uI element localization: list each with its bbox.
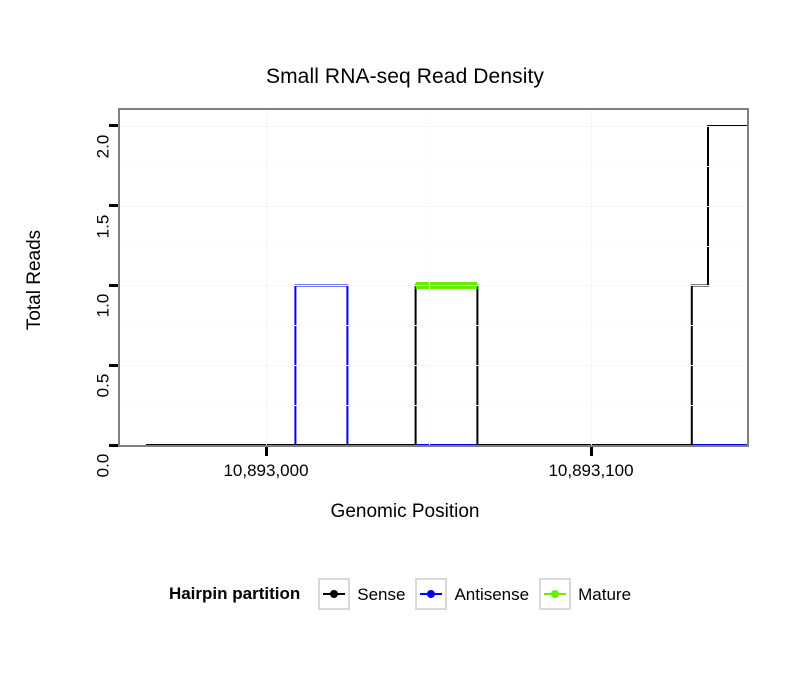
legend-title: Hairpin partition xyxy=(169,584,300,604)
legend-label: Antisense xyxy=(454,585,529,604)
gridline-horizontal xyxy=(120,285,747,286)
x-axis-tick-mark xyxy=(590,447,593,456)
gridline-horizontal-minor xyxy=(120,166,747,167)
y-axis-tick-label: 1.0 xyxy=(95,286,112,326)
legend-key-point xyxy=(427,590,435,598)
legend-label: Sense xyxy=(357,585,405,604)
gridline-vertical xyxy=(266,110,267,445)
y-axis-tick-label: 0.0 xyxy=(95,446,112,486)
y-axis-tick-label: 1.5 xyxy=(95,207,112,247)
y-axis-tick-label: 0.5 xyxy=(95,366,112,406)
legend-key-mature-icon xyxy=(539,578,571,610)
x-axis-tick-label: 10,893,000 xyxy=(223,461,308,480)
gridline-horizontal xyxy=(120,445,747,446)
legend-items: SenseAntisenseMature xyxy=(318,578,641,610)
gridline-horizontal xyxy=(120,126,747,127)
legend-item-sense[interactable]: Sense xyxy=(318,578,405,610)
legend-item-antisense[interactable]: Antisense xyxy=(415,578,529,610)
plot-panel xyxy=(118,108,749,447)
gridline-vertical xyxy=(591,110,592,445)
legend-key-point xyxy=(551,590,559,598)
legend: Hairpin partition SenseAntisenseMature xyxy=(0,578,810,610)
gridline-horizontal-minor xyxy=(120,405,747,406)
legend-key-sense-icon xyxy=(318,578,350,610)
y-axis-title: Total Reads xyxy=(23,180,46,380)
chart-figure: Small RNA-seq Read Density Total Reads 0… xyxy=(0,0,810,690)
gridline-vertical-minor xyxy=(429,110,430,445)
x-axis-title: Genomic Position xyxy=(0,500,810,523)
chart-title: Small RNA-seq Read Density xyxy=(0,64,810,90)
y-axis-tick-label: 2.0 xyxy=(95,127,112,167)
legend-key-point xyxy=(330,590,338,598)
plot-area xyxy=(120,110,747,445)
gridline-horizontal-minor xyxy=(120,325,747,326)
gridline-horizontal xyxy=(120,206,747,207)
gridline-horizontal xyxy=(120,365,747,366)
x-axis-tick-mark xyxy=(265,447,268,456)
legend-label: Mature xyxy=(578,585,631,604)
x-axis-tick-label: 10,893,100 xyxy=(548,461,633,480)
series-lines xyxy=(120,110,747,445)
legend-key-antisense-icon xyxy=(415,578,447,610)
gridline-horizontal-minor xyxy=(120,246,747,247)
legend-item-mature[interactable]: Mature xyxy=(539,578,631,610)
